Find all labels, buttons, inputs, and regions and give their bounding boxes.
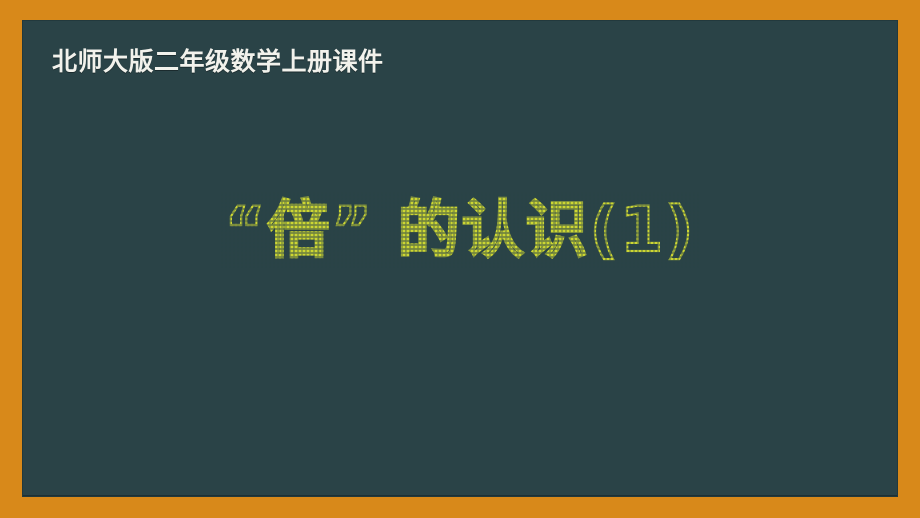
slide-title-container: “倍” 的认识(1) bbox=[22, 196, 898, 264]
page-title: “倍” 的认识(1) bbox=[225, 196, 696, 264]
title-texture-overlay bbox=[219, 192, 702, 268]
slide-content-board: 北师大版二年级数学上册课件 “倍” 的认识(1) bbox=[22, 20, 898, 497]
presentation-slide: 北师大版二年级数学上册课件 “倍” 的认识(1) bbox=[0, 0, 920, 518]
slide-subtitle-header: 北师大版二年级数学上册课件 bbox=[52, 48, 384, 77]
